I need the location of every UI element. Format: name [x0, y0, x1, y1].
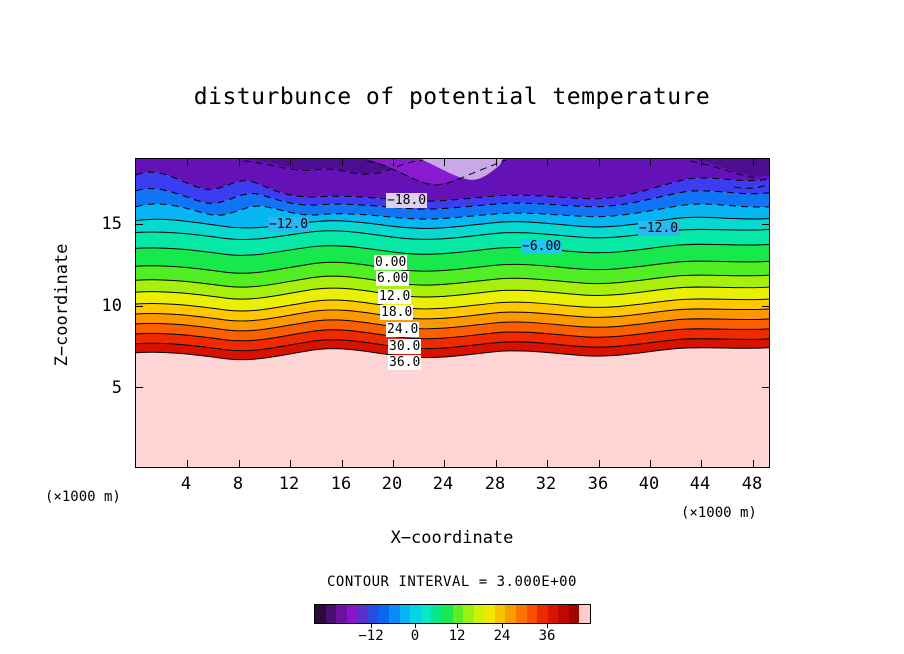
xticklabel-16: 16 — [321, 474, 361, 494]
contour-label-36: 36.0 — [388, 355, 421, 370]
xtick-36 — [599, 460, 600, 467]
xticklabel-20: 20 — [372, 474, 412, 494]
contour-label-24: 24.0 — [386, 322, 419, 337]
xtick-16 — [342, 460, 343, 467]
contour-interval-text: CONTOUR INTERVAL = 3.000E+00 — [0, 574, 904, 590]
colorbar-swatch-11 — [431, 605, 442, 623]
xticklabel-32: 32 — [526, 474, 566, 494]
xticklabel-4: 4 — [166, 474, 206, 494]
xtick-top-40 — [650, 159, 651, 166]
xtick-32 — [547, 460, 548, 467]
colorbar-swatch-18 — [505, 605, 516, 623]
xtick-20 — [393, 460, 394, 467]
colorbar-swatch-14 — [463, 605, 474, 623]
xtick-top-44 — [701, 159, 702, 166]
contour-label-0: 0.00 — [374, 255, 407, 270]
ytick-15 — [136, 224, 143, 225]
xtick-8 — [239, 460, 240, 467]
cbar-label-36: 36 — [532, 628, 562, 644]
y-axis-label: Z−coordinate — [52, 205, 72, 405]
colorbar-swatch-25 — [579, 605, 590, 623]
contour-label-neg12-left: −12.0 — [268, 217, 309, 232]
colorbar-swatch-5 — [368, 605, 379, 623]
xtick-top-24 — [444, 159, 445, 166]
xticklabel-36: 36 — [578, 474, 618, 494]
xtick-top-16 — [342, 159, 343, 166]
colorbar-swatch-13 — [453, 605, 464, 623]
ytick-right-10 — [762, 306, 769, 307]
xticklabel-8: 8 — [218, 474, 258, 494]
cbar-label-24: 24 — [487, 628, 517, 644]
colorbar-swatch-19 — [516, 605, 527, 623]
colorbar-swatch-3 — [347, 605, 358, 623]
y-unit-label: (×1000 m) — [45, 489, 121, 505]
contour-label-neg12-right: −12.0 — [638, 221, 679, 236]
yticklabel-5: 5 — [92, 378, 122, 398]
xtick-44 — [701, 460, 702, 467]
xtick-top-32 — [547, 159, 548, 166]
xtick-24 — [444, 460, 445, 467]
colorbar-swatch-10 — [421, 605, 432, 623]
colorbar-swatch-2 — [336, 605, 347, 623]
xtick-top-48 — [753, 159, 754, 166]
xtick-12 — [290, 460, 291, 467]
colorbar-labels: −12 0 12 24 36 — [314, 628, 591, 648]
contour-field-layers — [136, 159, 769, 467]
ytick-right-5 — [762, 387, 769, 388]
xtick-40 — [650, 460, 651, 467]
colorbar-swatch-9 — [410, 605, 421, 623]
chart-title: disturbunce of potential temperature — [0, 84, 904, 110]
xtick-top-36 — [599, 159, 600, 166]
contour-label-30: 30.0 — [388, 339, 421, 354]
xticklabel-28: 28 — [475, 474, 515, 494]
contour-label-6: 6.00 — [376, 271, 409, 286]
colorbar-swatch-4 — [357, 605, 368, 623]
xtick-top-4 — [187, 159, 188, 166]
xtick-top-8 — [239, 159, 240, 166]
colorbar-swatch-22 — [548, 605, 559, 623]
ytick-10 — [136, 306, 143, 307]
yticklabel-10: 10 — [92, 296, 122, 316]
xticklabel-48: 48 — [732, 474, 772, 494]
cbar-label-neg12: −12 — [356, 628, 386, 644]
ytick-right-15 — [762, 224, 769, 225]
x-axis-label: X−coordinate — [0, 528, 904, 548]
contour-plot-area: 0.00 6.00 12.0 18.0 24.0 30.0 36.0 −18.0… — [135, 158, 770, 468]
contour-label-18: 18.0 — [380, 305, 413, 320]
colorbar-swatch-21 — [537, 605, 548, 623]
ytick-5 — [136, 387, 143, 388]
colorbar-swatch-20 — [527, 605, 538, 623]
cbar-label-0: 0 — [400, 628, 430, 644]
xticklabel-12: 12 — [269, 474, 309, 494]
xtick-28 — [496, 460, 497, 467]
xtick-top-28 — [496, 159, 497, 166]
colorbar-swatch-0 — [315, 605, 326, 623]
xtick-top-20 — [393, 159, 394, 166]
xticklabel-44: 44 — [680, 474, 720, 494]
cbar-label-12: 12 — [442, 628, 472, 644]
contour-label-12: 12.0 — [378, 289, 411, 304]
xticklabel-24: 24 — [423, 474, 463, 494]
colorbar-swatch-12 — [442, 605, 453, 623]
contour-label-neg18: −18.0 — [386, 193, 427, 208]
yticklabel-15: 15 — [92, 214, 122, 234]
colorbar-swatch-7 — [389, 605, 400, 623]
xtick-top-12 — [290, 159, 291, 166]
xtick-48 — [753, 460, 754, 467]
xticklabel-40: 40 — [629, 474, 669, 494]
colorbar-swatch-1 — [326, 605, 337, 623]
colorbar — [314, 604, 591, 624]
colorbar-swatch-6 — [378, 605, 389, 623]
contour-label-neg6: −6.00 — [521, 239, 562, 254]
colorbar-swatch-23 — [558, 605, 569, 623]
colorbar-swatch-15 — [474, 605, 485, 623]
colorbar-swatch-8 — [400, 605, 411, 623]
colorbar-swatch-16 — [484, 605, 495, 623]
xtick-4 — [187, 460, 188, 467]
colorbar-swatch-17 — [495, 605, 506, 623]
x-unit-label: (×1000 m) — [681, 505, 757, 521]
colorbar-swatch-24 — [569, 605, 580, 623]
